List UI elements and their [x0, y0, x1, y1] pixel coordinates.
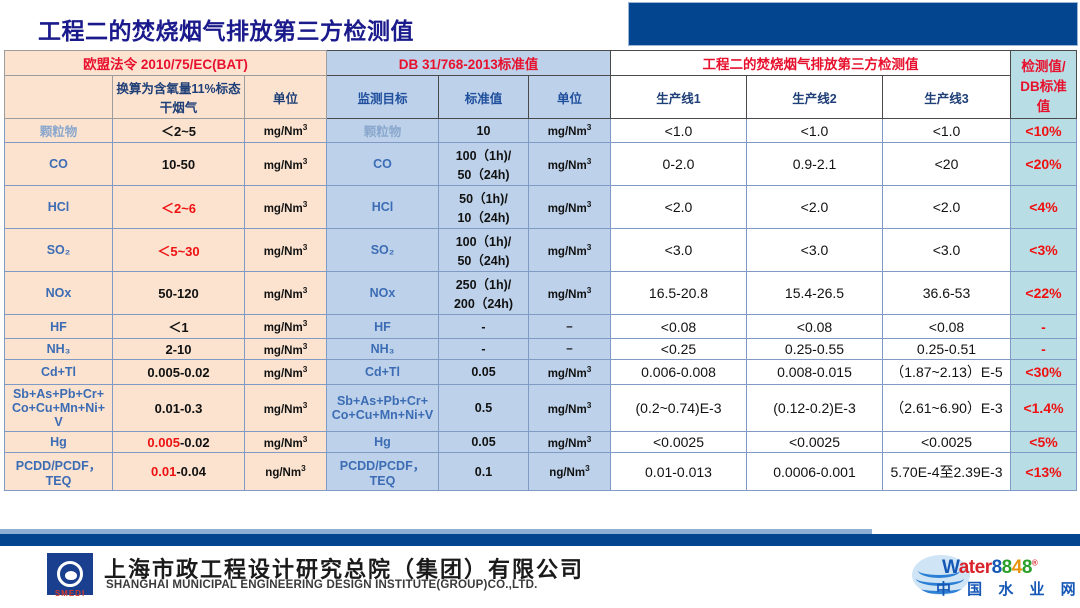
cell-line2-value: <2.0	[747, 186, 883, 229]
cell-line3-value: <2.0	[883, 186, 1011, 229]
cell-ratio-value: <30%	[1011, 360, 1077, 385]
cell-db-label: SO₂	[327, 229, 439, 272]
eu-basis-line2: 干烟气	[160, 101, 198, 115]
cell-eu-value: 50-120	[113, 272, 245, 315]
cell-line1-value: <3.0	[611, 229, 747, 272]
cell-line3-value: （1.87~2.13）E-5	[883, 360, 1011, 385]
cell-eu-value: 0.01-0.3	[113, 385, 245, 432]
cell-eu-value: 2-10	[113, 339, 245, 360]
group-header-eu: 欧盟法令 2010/75/EC(BAT)	[5, 51, 327, 76]
group-header-ratio: 检测值/ DB标准值	[1011, 51, 1077, 119]
cell-eu-label: Sb+As+Pb+Cr+Co+Cu+Mn+Ni+V	[5, 385, 113, 432]
subheader-line-1: 生产线1	[611, 76, 747, 119]
table-row: NOx50-120mg/Nm3NOx250（1h)/200（24h)mg/Nm3…	[5, 272, 1077, 315]
cell-line3-value: （2.61~6.90）E-3	[883, 385, 1011, 432]
cell-eu-label: Cd+Tl	[5, 360, 113, 385]
table-head: 欧盟法令 2010/75/EC(BAT) DB 31/768-2013标准值 工…	[5, 51, 1077, 119]
cell-eu-value: ＜2~6	[113, 186, 245, 229]
cell-line3-value: <1.0	[883, 119, 1011, 143]
cell-db-standard: -	[439, 339, 529, 360]
cell-ratio-value: <13%	[1011, 453, 1077, 491]
cell-eu-unit: mg/Nm3	[245, 143, 327, 186]
cell-line2-value: (0.12-0.2)E-3	[747, 385, 883, 432]
cell-db-unit: mg/Nm3	[529, 186, 611, 229]
cell-line1-value: <0.08	[611, 315, 747, 339]
cell-line1-value: 0.006-0.008	[611, 360, 747, 385]
subheader-eu-unit: 单位	[245, 76, 327, 119]
table-row: Hg0.005-0.02mg/Nm3Hg0.05mg/Nm3<0.0025<0.…	[5, 432, 1077, 453]
sub-header-row: 换算为含氧量11%标态 干烟气 单位 监测目标 标准值 单位 生产线1 生产线2…	[5, 76, 1077, 119]
cell-db-unit: –	[529, 315, 611, 339]
cell-line2-value: 15.4-26.5	[747, 272, 883, 315]
cell-ratio-value: -	[1011, 339, 1077, 360]
cell-eu-value: 0.01-0.04	[113, 453, 245, 491]
cell-eu-value: ＜2~5	[113, 119, 245, 143]
table-row: 颗粒物＜2~5mg/Nm3颗粒物10mg/Nm3<1.0<1.0<1.0<10%	[5, 119, 1077, 143]
smedi-ring-shape	[57, 561, 83, 587]
cell-eu-unit: mg/Nm3	[245, 385, 327, 432]
subheader-line-2: 生产线2	[747, 76, 883, 119]
company-name-en: SHANGHAI MUNICIPAL ENGINEERING DESIGN IN…	[106, 579, 538, 591]
cell-db-standard: 100（1h)/50（24h)	[439, 143, 529, 186]
cell-ratio-value: <1.4%	[1011, 385, 1077, 432]
cell-ratio-value: <10%	[1011, 119, 1077, 143]
smedi-logo-wordmark: SMEDI	[47, 589, 93, 598]
cell-db-label: NOx	[327, 272, 439, 315]
cell-line2-value: 0.008-0.015	[747, 360, 883, 385]
cell-eu-unit: mg/Nm3	[245, 360, 327, 385]
page-title: 工程二的焚烧烟气排放第三方检测值	[38, 12, 414, 46]
cell-eu-label: NOx	[5, 272, 113, 315]
cell-line1-value: <1.0	[611, 119, 747, 143]
subheader-eu-basis: 换算为含氧量11%标态 干烟气	[113, 76, 245, 119]
cell-eu-label: HF	[5, 315, 113, 339]
cell-db-unit: mg/Nm3	[529, 385, 611, 432]
subheader-db-unit: 单位	[529, 76, 611, 119]
table-row: SO₂＜5~30mg/Nm3SO₂100（1h)/50（24h)mg/Nm3<3…	[5, 229, 1077, 272]
cell-db-unit: mg/Nm3	[529, 272, 611, 315]
cell-db-standard: 0.1	[439, 453, 529, 491]
cell-line3-value: 0.25-0.51	[883, 339, 1011, 360]
cell-db-unit: mg/Nm3	[529, 143, 611, 186]
cell-db-standard: 10	[439, 119, 529, 143]
table-row: HCl＜2~6mg/Nm3HCl50（1h)/10（24h)mg/Nm3<2.0…	[5, 186, 1077, 229]
table-row: PCDD/PCDF，TEQ0.01-0.04ng/Nm3PCDD/PCDF，TE…	[5, 453, 1077, 491]
cell-db-unit: mg/Nm3	[529, 229, 611, 272]
cell-line1-value: 16.5-20.8	[611, 272, 747, 315]
cell-eu-unit: mg/Nm3	[245, 315, 327, 339]
cell-line2-value: 0.0006-0.001	[747, 453, 883, 491]
cell-eu-unit: mg/Nm3	[245, 339, 327, 360]
cell-db-label: PCDD/PCDF，TEQ	[327, 453, 439, 491]
cell-line2-value: <0.0025	[747, 432, 883, 453]
cell-eu-unit: mg/Nm3	[245, 119, 327, 143]
cell-line1-value: (0.2~0.74)E-3	[611, 385, 747, 432]
cell-line1-value: 0.01-0.013	[611, 453, 747, 491]
cell-line1-value: 0-2.0	[611, 143, 747, 186]
emissions-table: 欧盟法令 2010/75/EC(BAT) DB 31/768-2013标准值 工…	[4, 50, 1077, 491]
cell-line3-value: 5.70E-4至2.39E-3	[883, 453, 1011, 491]
cell-eu-value: 10-50	[113, 143, 245, 186]
cell-ratio-value: <5%	[1011, 432, 1077, 453]
subheader-eu-blank	[5, 76, 113, 119]
cell-db-unit: ng/Nm3	[529, 453, 611, 491]
ratio-header-line1: 检测值/	[1021, 59, 1065, 74]
subheader-db-standard: 标准值	[439, 76, 529, 119]
cell-line3-value: <0.08	[883, 315, 1011, 339]
cell-eu-label: PCDD/PCDF，TEQ	[5, 453, 113, 491]
cell-eu-label: SO₂	[5, 229, 113, 272]
cell-eu-label: Hg	[5, 432, 113, 453]
cell-db-label: Cd+Tl	[327, 360, 439, 385]
emissions-table-wrapper: 欧盟法令 2010/75/EC(BAT) DB 31/768-2013标准值 工…	[4, 50, 1076, 491]
cell-eu-unit: mg/Nm3	[245, 272, 327, 315]
cell-ratio-value: -	[1011, 315, 1077, 339]
table-row: NH₃2-10mg/Nm3NH₃-–<0.250.25-0.550.25-0.5…	[5, 339, 1077, 360]
cell-eu-label: CO	[5, 143, 113, 186]
cell-line2-value: <0.08	[747, 315, 883, 339]
table-row: Sb+As+Pb+Cr+Co+Cu+Mn+Ni+V0.01-0.3mg/Nm3S…	[5, 385, 1077, 432]
cell-db-standard: -	[439, 315, 529, 339]
cell-ratio-value: <4%	[1011, 186, 1077, 229]
cell-db-standard: 0.05	[439, 432, 529, 453]
cell-db-standard: 0.5	[439, 385, 529, 432]
cell-eu-unit: ng/Nm3	[245, 453, 327, 491]
cell-line1-value: <2.0	[611, 186, 747, 229]
cell-eu-value: ＜1	[113, 315, 245, 339]
cell-db-label: Sb+As+Pb+Cr+Co+Cu+Mn+Ni+V	[327, 385, 439, 432]
eu-basis-line1: 换算为含氧量11%标态	[116, 82, 240, 96]
footer-bar	[0, 534, 1080, 546]
cell-db-label: 颗粒物	[327, 119, 439, 143]
cell-eu-label: NH₃	[5, 339, 113, 360]
group-header-row: 欧盟法令 2010/75/EC(BAT) DB 31/768-2013标准值 工…	[5, 51, 1077, 76]
cell-db-standard: 0.05	[439, 360, 529, 385]
top-accent-bar	[628, 2, 1078, 46]
cell-db-unit: –	[529, 339, 611, 360]
cell-line3-value: <20	[883, 143, 1011, 186]
cell-db-unit: mg/Nm3	[529, 432, 611, 453]
cell-db-standard: 250（1h)/200（24h)	[439, 272, 529, 315]
cell-db-label: HCl	[327, 186, 439, 229]
watermark-brand-cn: 中 国 水 业 网	[936, 578, 1080, 599]
water8848-watermark: Water8848® 中 国 水 业 网	[912, 551, 1072, 599]
cell-line2-value: <3.0	[747, 229, 883, 272]
table-row: HF＜1mg/Nm3HF-–<0.08<0.08<0.08-	[5, 315, 1077, 339]
cell-line3-value: <3.0	[883, 229, 1011, 272]
cell-eu-label: 颗粒物	[5, 119, 113, 143]
table-row: CO10-50mg/Nm3CO100（1h)/50（24h)mg/Nm30-2.…	[5, 143, 1077, 186]
cell-eu-unit: mg/Nm3	[245, 229, 327, 272]
cell-ratio-value: <3%	[1011, 229, 1077, 272]
cell-eu-unit: mg/Nm3	[245, 186, 327, 229]
ratio-header-line2: DB标准值	[1020, 79, 1067, 114]
cell-db-unit: mg/Nm3	[529, 119, 611, 143]
cell-eu-value: ＜5~30	[113, 229, 245, 272]
group-header-detection: 工程二的焚烧烟气排放第三方检测值	[611, 51, 1011, 76]
cell-db-unit: mg/Nm3	[529, 360, 611, 385]
cell-db-label: CO	[327, 143, 439, 186]
cell-db-standard: 50（1h)/10（24h)	[439, 186, 529, 229]
cell-eu-unit: mg/Nm3	[245, 432, 327, 453]
cell-eu-value: 0.005-0.02	[113, 360, 245, 385]
watermark-brand-text: Water8848®	[942, 557, 1037, 579]
subheader-line-3: 生产线3	[883, 76, 1011, 119]
cell-eu-label: HCl	[5, 186, 113, 229]
cell-eu-value: 0.005-0.02	[113, 432, 245, 453]
cell-ratio-value: <20%	[1011, 143, 1077, 186]
cell-db-standard: 100（1h)/50（24h)	[439, 229, 529, 272]
subheader-db-target: 监测目标	[327, 76, 439, 119]
cell-line2-value: <1.0	[747, 119, 883, 143]
cell-line2-value: 0.9-2.1	[747, 143, 883, 186]
table-row: Cd+Tl0.005-0.02mg/Nm3Cd+Tl0.05mg/Nm30.00…	[5, 360, 1077, 385]
cell-db-label: Hg	[327, 432, 439, 453]
cell-db-label: NH₃	[327, 339, 439, 360]
cell-line3-value: <0.0025	[883, 432, 1011, 453]
group-header-db: DB 31/768-2013标准值	[327, 51, 611, 76]
cell-line3-value: 36.6-53	[883, 272, 1011, 315]
table-body: 颗粒物＜2~5mg/Nm3颗粒物10mg/Nm3<1.0<1.0<1.0<10%…	[5, 119, 1077, 491]
cell-line1-value: <0.0025	[611, 432, 747, 453]
cell-line1-value: <0.25	[611, 339, 747, 360]
cell-line2-value: 0.25-0.55	[747, 339, 883, 360]
cell-ratio-value: <22%	[1011, 272, 1077, 315]
cell-db-label: HF	[327, 315, 439, 339]
